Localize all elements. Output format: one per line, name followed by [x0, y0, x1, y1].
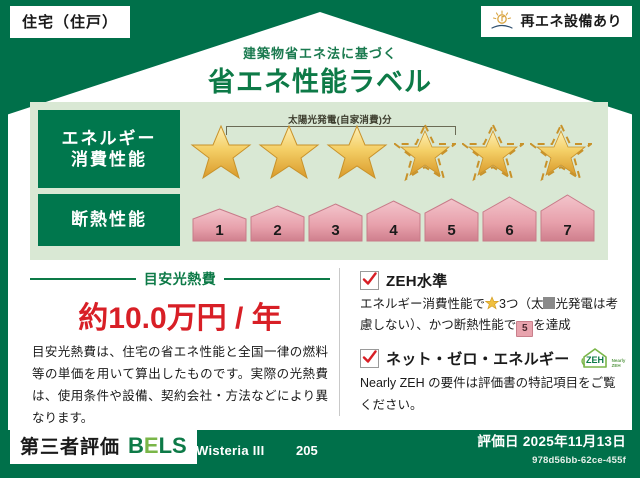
bels-letter-b: B: [128, 433, 144, 458]
bels-en-text: BELS: [128, 433, 187, 459]
insulation-level-5: 5: [424, 198, 479, 242]
insulation-level-3: 3: [308, 203, 363, 242]
insulation-level-badge-inline: 5: [516, 321, 533, 337]
heading-rule-right: [224, 278, 330, 280]
utility-cost-note: 目安光熱費は、住宅の省エネ性能と全国一律の燃料等の単価を用いて算出したものです。…: [32, 342, 328, 430]
insulation-level-5-number: 5: [424, 222, 479, 239]
insulation-level-6: 6: [482, 196, 537, 242]
column-divider: [339, 268, 340, 416]
zeh-body-post: を達成: [533, 318, 571, 332]
star-icon: [485, 296, 499, 310]
zeh-body-pre: エネルギー消費性能で: [360, 297, 485, 311]
criterion-net-zero-energy-title: ネット・ゼロ・エネルギー: [386, 348, 570, 369]
insulation-level-7-number: 7: [540, 222, 595, 239]
property-name: Wisteria III: [196, 443, 265, 458]
criterion-zeh-standard-body: エネルギー消費性能で3つ（太光発電は考慮しない）、かつ断熱性能で5を達成: [360, 294, 622, 337]
star-6-solar: [530, 122, 592, 182]
bels-jp-text: 第三者評価: [20, 432, 120, 459]
criterion-zeh-standard: ZEH水準 エネルギー消費性能で3つ（太光発電は考慮しない）、かつ断熱性能で5を…: [360, 270, 622, 337]
criterion-zeh-standard-head: ZEH水準: [360, 270, 622, 291]
insulation-level-7: 7: [540, 194, 595, 242]
insulation-level-1: 1: [192, 208, 247, 242]
criterion-zeh-standard-title: ZEH水準: [386, 270, 448, 291]
insulation-level-4: 4: [366, 200, 421, 242]
criterion-net-zero-energy: ネット・ゼロ・エネルギー ZEH Nearly ZEH Nearly ZE: [360, 346, 622, 416]
star-1: [190, 122, 252, 182]
star-2: [258, 122, 320, 182]
bels-letter-s: S: [172, 433, 187, 458]
property-unit-number: 205: [296, 443, 318, 458]
criterion-net-zero-energy-head: ネット・ゼロ・エネルギー ZEH Nearly ZEH: [360, 346, 622, 370]
checkbox-checked-icon: [360, 271, 379, 290]
renewable-equipment-badge: 再エネ設備あり: [481, 6, 633, 37]
zeh-body-mid: 3つ（太: [499, 297, 543, 311]
utility-cost-heading: 目安光熱費: [30, 270, 330, 288]
label-content: 建築物省エネ法に基づく 省エネ性能ラベル エネルギー 消費性能 断熱性能 太陽光…: [8, 12, 632, 430]
ratings-panel: エネルギー 消費性能 断熱性能 太陽光発電(自家消費)分: [30, 102, 608, 260]
insulation-label: 断熱性能: [71, 209, 147, 230]
renewable-badge-label: 再エネ設備あり: [521, 11, 623, 31]
energy-performance-label: 住宅（住戸） 再エネ設備あり 建築物省エネ法に基づく 省エネ性能ラベル: [0, 0, 640, 478]
insulation-level-2: 2: [250, 205, 305, 242]
zeh-logo-sub: Nearly ZEH: [612, 358, 626, 370]
insulation-performance-label-block: 断熱性能: [38, 194, 180, 246]
energy-performance-label-block: エネルギー 消費性能: [38, 110, 180, 188]
evaluation-id: 978d56bb-62ce-455f: [532, 455, 626, 466]
evaluation-date: 評価日 2025年11月13日: [477, 430, 626, 450]
zeh-sub-line2: ZEH: [612, 363, 621, 368]
svg-text:ZEH: ZEH: [586, 355, 604, 365]
checkbox-checked-icon-2: [360, 349, 379, 368]
utility-cost-value: 約10.0万円 / 年: [30, 293, 330, 337]
energy-label-line2: 消費性能: [71, 149, 147, 170]
criterion-net-zero-energy-body: Nearly ZEH の要件は評価書の特記項目をご覧ください。: [360, 373, 622, 416]
heading-rule-left: [30, 278, 136, 280]
utility-cost-heading-text: 目安光熱費: [144, 269, 217, 289]
energy-star-row: [190, 114, 598, 188]
housing-type-chip: 住宅（住戸）: [10, 6, 130, 38]
insulation-level-6-number: 6: [482, 222, 537, 239]
sun-icon: [489, 10, 515, 32]
energy-label-line1: エネルギー: [62, 128, 157, 149]
criteria-list: ZEH水準 エネルギー消費性能で3つ（太光発電は考慮しない）、かつ断熱性能で5を…: [360, 270, 622, 425]
insulation-level-1-number: 1: [192, 222, 247, 239]
bels-letter-e: E: [144, 433, 159, 458]
star-5-solar: [462, 122, 524, 182]
insulation-level-4-number: 4: [366, 222, 421, 239]
insulation-level-3-number: 3: [308, 222, 363, 239]
zeh-house-icon: ZEH Nearly ZEH: [580, 346, 626, 370]
label-title: 省エネ性能ラベル: [8, 60, 632, 99]
bels-letter-l: L: [159, 433, 172, 458]
star-4-solar: [394, 122, 456, 182]
redacted-character: [543, 297, 555, 309]
star-3: [326, 122, 388, 182]
bels-logo: 第三者評価 BELS: [10, 428, 197, 464]
insulation-level-2-number: 2: [250, 222, 305, 239]
insulation-level-row: 1 2 3 4: [190, 194, 598, 246]
